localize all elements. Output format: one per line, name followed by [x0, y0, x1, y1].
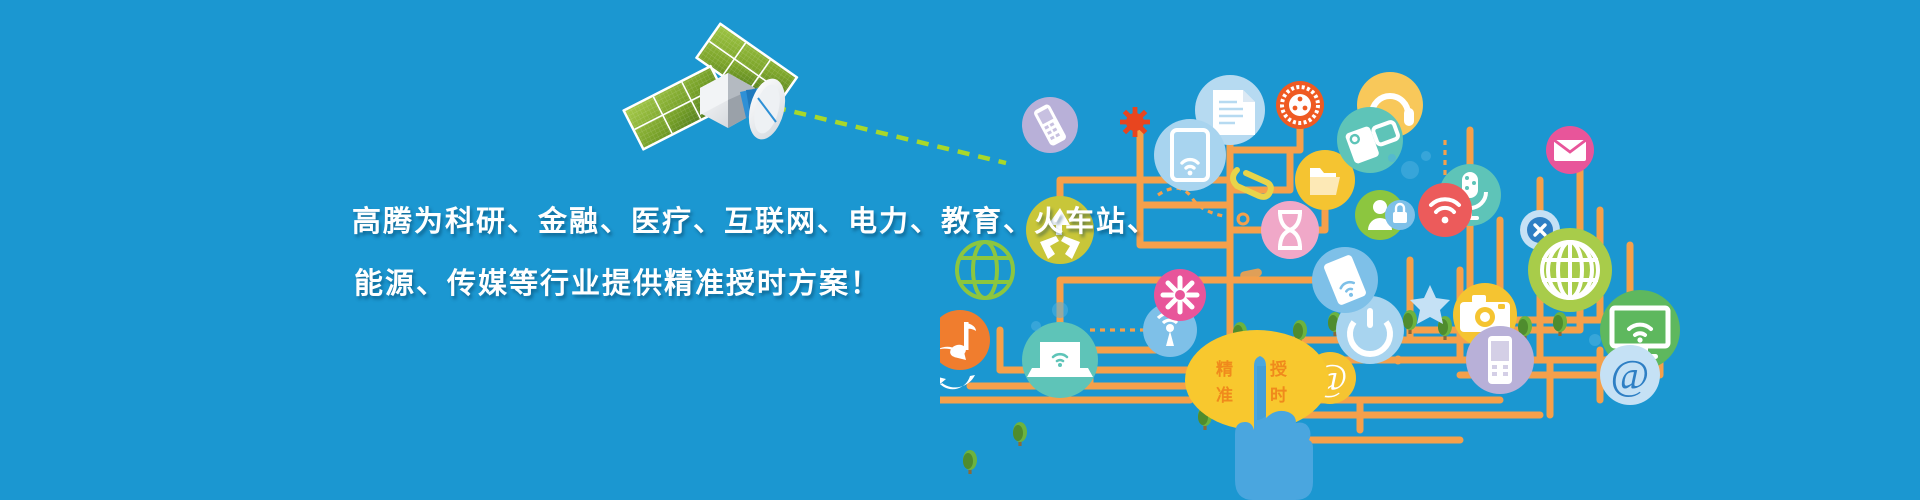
- svg-text:@: @: [1611, 353, 1650, 399]
- flower-icon[interactable]: [1154, 269, 1206, 321]
- hero-banner: @: [0, 0, 1920, 500]
- laptop-wifi-icon[interactable]: [1022, 322, 1098, 398]
- settings-gear-icon[interactable]: [1276, 81, 1324, 129]
- globe-grid-icon[interactable]: [1528, 228, 1612, 312]
- satellite-icon: [600, 10, 830, 190]
- music-note-icon[interactable]: [940, 310, 990, 370]
- satellite-illustration: [600, 10, 830, 190]
- at-mail-icon[interactable]: @: [1600, 345, 1660, 405]
- globe-wire-icon[interactable]: [957, 242, 1013, 298]
- tablet-wifi-icon[interactable]: [1154, 119, 1226, 191]
- mail-envelope-icon[interactable]: [1546, 126, 1594, 174]
- mobile-phone-icon[interactable]: [1022, 97, 1078, 153]
- recycle-icon[interactable]: [1026, 196, 1094, 264]
- video-camera-icon[interactable]: [1337, 107, 1403, 173]
- lock-icon[interactable]: [1385, 200, 1415, 230]
- smartphone-icon[interactable]: [1466, 326, 1534, 394]
- tablet-signal-icon[interactable]: [1312, 247, 1378, 313]
- gear-icon[interactable]: [1120, 107, 1150, 137]
- wifi-signal-icon[interactable]: [1418, 183, 1472, 237]
- hourglass-icon[interactable]: [1261, 201, 1319, 259]
- pointing-hand: [1185, 330, 1435, 500]
